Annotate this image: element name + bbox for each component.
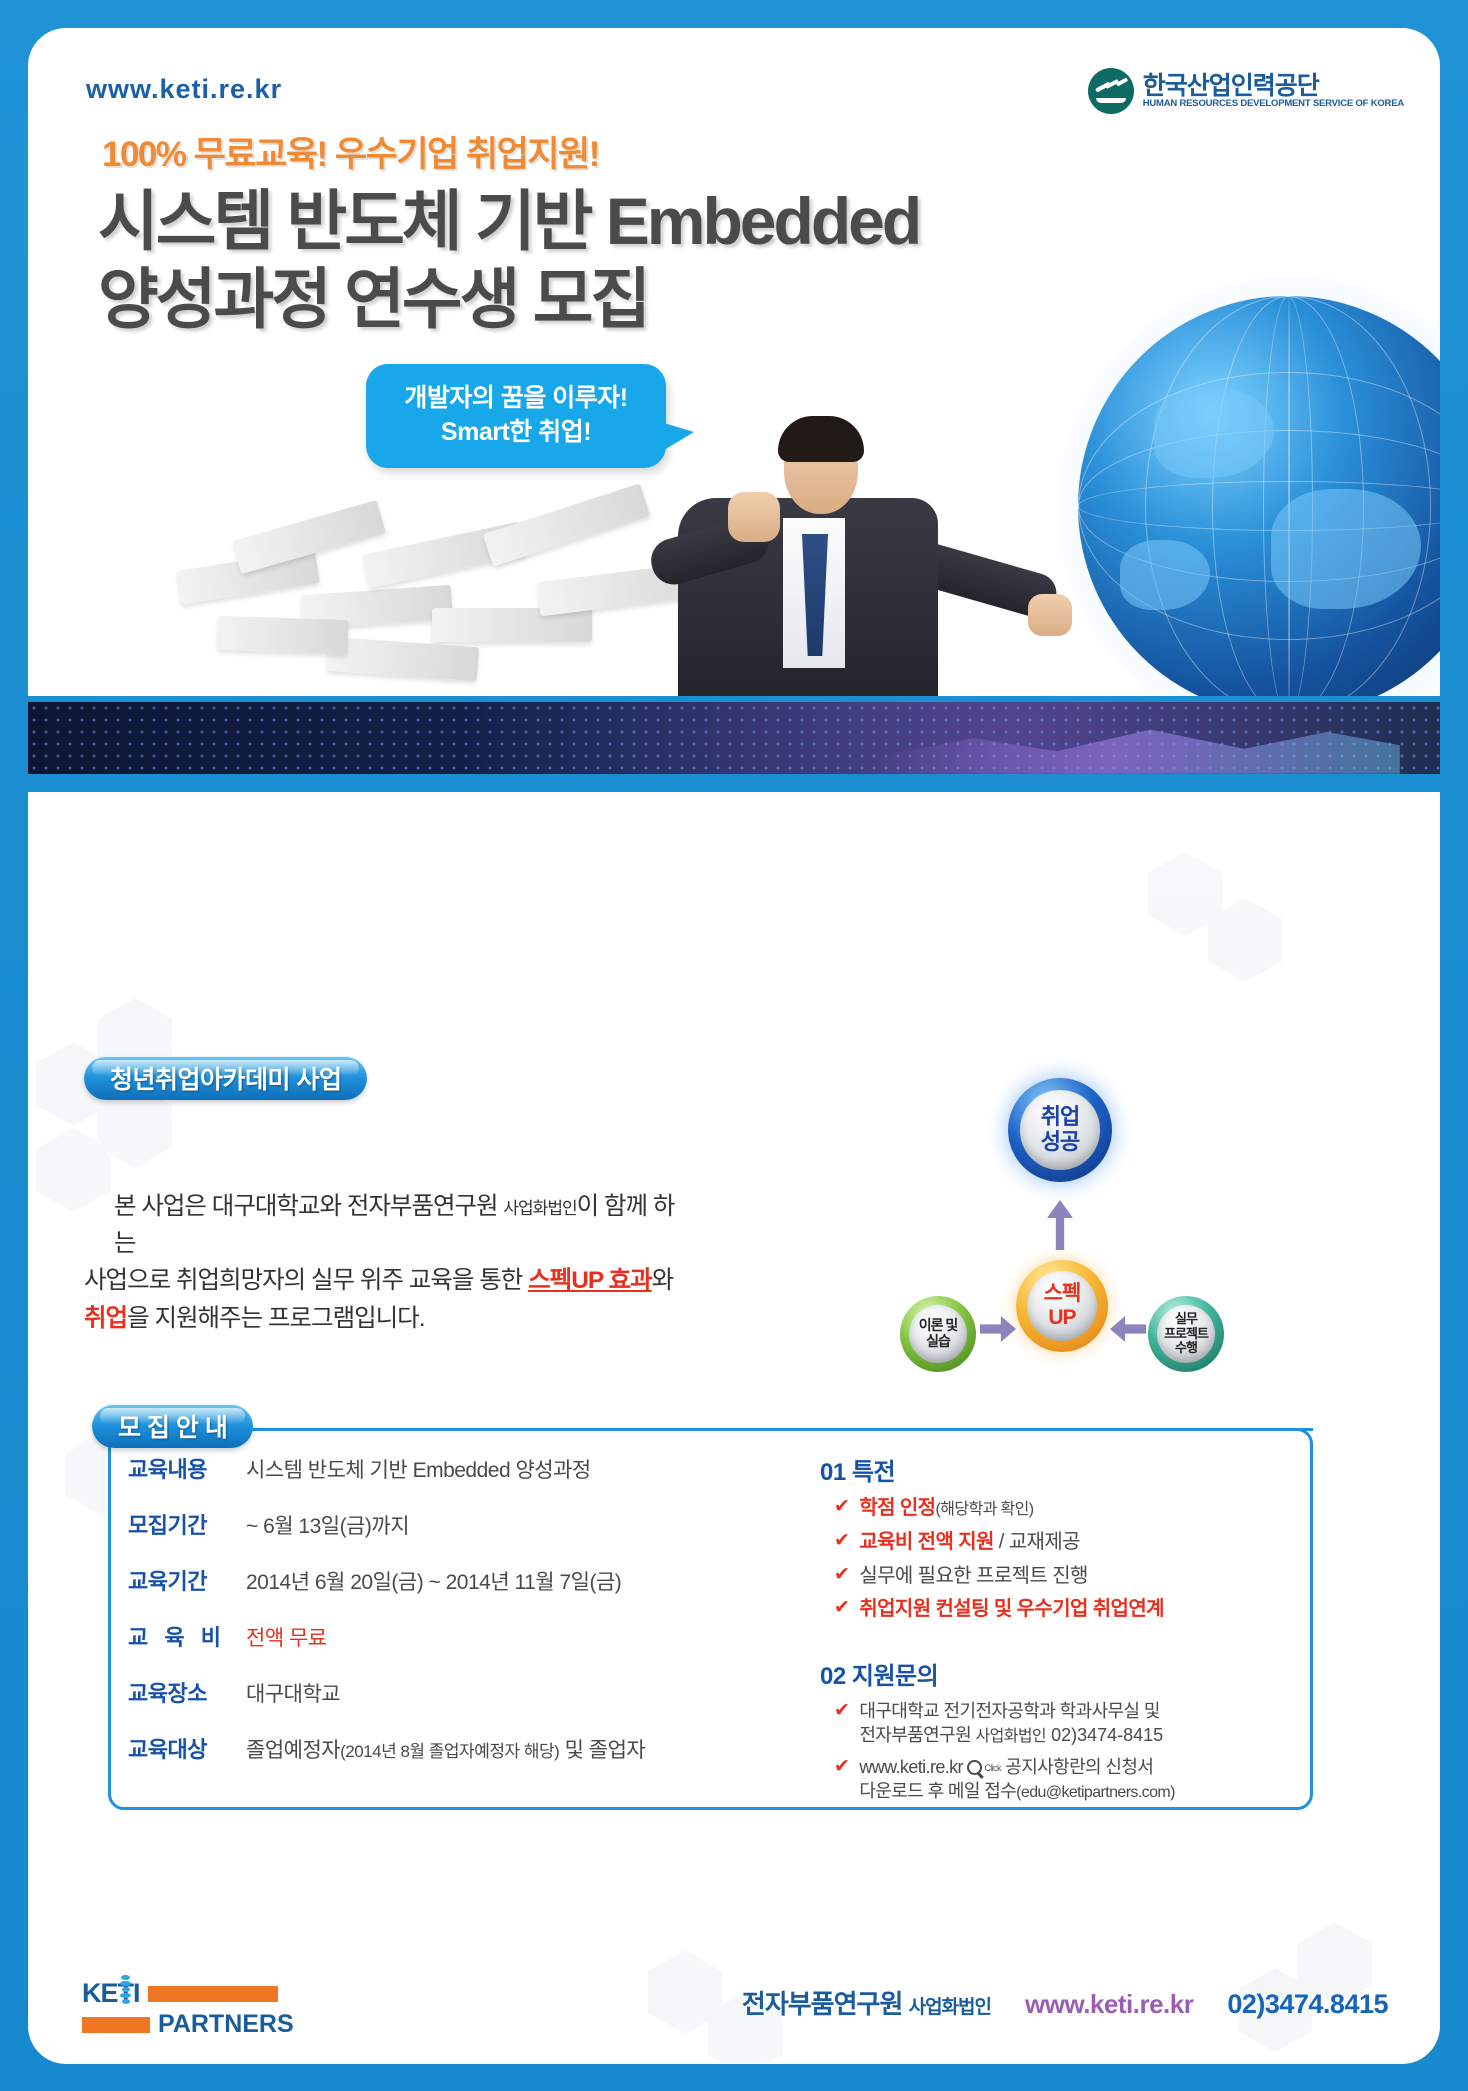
- list-item: ✔ 학점 인정(해당학과 확인): [820, 1495, 1290, 1522]
- keti-orange-bar-2: [82, 2017, 150, 2033]
- keti-partners-logo: KETI PARTNERS: [82, 1978, 272, 2040]
- recruit-label-target: 교육대상: [128, 1732, 246, 1764]
- hrd-emblem-icon: [1088, 68, 1134, 114]
- hrd-name-korean: 한국산업인력공단: [1143, 73, 1404, 99]
- decorative-band: [28, 702, 1440, 774]
- contact-title: 02 지원문의: [820, 1656, 1290, 1691]
- check-icon: ✔: [834, 1529, 849, 1554]
- intro-line2-a: 사업으로 취업희망자의 실무 위주 교육을 통한: [84, 1267, 528, 1294]
- benefit-4-red: 취업지원 컨설팅 및 우수기업 취업연계: [859, 1596, 1164, 1623]
- table-row: 교육장소 대구대학교: [128, 1676, 728, 1708]
- hrd-korea-logo: 한국산업인력공단 HUMAN RESOURCES DEVELOPMENT SER…: [1088, 68, 1404, 114]
- benefits-title: 01 특전: [820, 1452, 1290, 1487]
- footer-org-small: 사업화법인: [909, 1997, 991, 2018]
- orb-success-line2: 성공: [1041, 1130, 1079, 1155]
- process-diagram: 취업 성공 스펙 UP 이론 및 실습: [900, 1078, 1240, 1398]
- recruit-label-content: 교육내용: [128, 1452, 246, 1484]
- intro-body-text: 본 사업은 대구대학교와 전자부품연구원 사업화법인이 함께 하는 사업으로 취…: [84, 1188, 684, 1337]
- footer-telephone[interactable]: 02)3474.8415: [1227, 1989, 1388, 2020]
- contact-email[interactable]: (edu@ketipartners.com): [1016, 1784, 1175, 1801]
- arrow-right-icon: [980, 1316, 1016, 1342]
- benefit-2-gray: / 교재제공: [994, 1531, 1080, 1553]
- contact-line2-small: 사업화법인: [975, 1728, 1046, 1745]
- orb-project-line1: 실무: [1164, 1312, 1208, 1327]
- recruit-label-location: 교육장소: [128, 1676, 246, 1708]
- poster-root: www.keti.re.kr 한국산업인력공단 HUMAN RESOURCES …: [0, 0, 1468, 2091]
- contact-phone[interactable]: 02)3474-8415: [1046, 1725, 1163, 1745]
- intro-line2-b: 와: [652, 1267, 674, 1294]
- keti-orange-bar-1: [148, 1986, 278, 2002]
- benefit-1-note: (해당학과 확인): [936, 1501, 1034, 1518]
- orb-employment-success: 취업 성공: [1008, 1078, 1112, 1182]
- footer-website-url[interactable]: www.keti.re.kr: [1025, 1989, 1193, 2020]
- recruit-label-duration: 교육기간: [128, 1564, 246, 1596]
- benefit-2-red: 교육비 전액 지원: [859, 1531, 994, 1553]
- benefit-3-text: 실무에 필요한 프로젝트 진행: [859, 1563, 1087, 1590]
- orb-spec-up: 스펙 UP: [1016, 1260, 1108, 1352]
- orb-theory-line2: 실습: [919, 1334, 958, 1350]
- table-row: 교육대상 졸업예정자(2014년 8월 졸업자예정자 해당) 및 졸업자: [128, 1732, 728, 1764]
- hero-title-line2: 양성과정 연수생 모집: [98, 246, 648, 342]
- recruit-label-fee: 교 육 비: [128, 1620, 246, 1652]
- section-recruit-heading: 모 집 안 내: [92, 1404, 253, 1448]
- check-icon: ✔: [834, 1699, 849, 1724]
- contact-line1: 대구대학교 전기전자공학과 학과사무실 및: [859, 1701, 1159, 1721]
- orb-project-execution: 실무 프로젝트 수행: [1148, 1296, 1224, 1372]
- recruit-value-fee: 전액 무료: [246, 1622, 327, 1652]
- click-badge-label: Click: [984, 1762, 1001, 1774]
- recruit-box-top-rule: [330, 1428, 1313, 1431]
- contact-download-text: 다운로드 후 메일 접수: [859, 1781, 1016, 1801]
- intro-line1-small: 사업화법인: [503, 1199, 576, 1218]
- check-icon: ✔: [834, 1596, 849, 1621]
- benefit-1-red: 학점 인정: [859, 1497, 935, 1519]
- click-cursor-icon: Click: [967, 1760, 1001, 1775]
- recruit-label-period: 모집기간: [128, 1508, 246, 1540]
- recruit-value-location: 대구대학교: [246, 1678, 340, 1708]
- recruit-target-main: 졸업예정자: [246, 1739, 340, 1762]
- table-row: 교육내용 시스템 반도체 기반 Embedded 양성과정: [128, 1452, 728, 1484]
- arrow-up-icon: [1047, 1200, 1073, 1250]
- table-row: 모집기간 ~ 6월 13일(금)까지: [128, 1508, 728, 1540]
- recruit-pill-label: 모 집 안 내: [92, 1404, 253, 1448]
- list-item: ✔ 실무에 필요한 프로젝트 진행: [820, 1563, 1290, 1590]
- speech-bubble: 개발자의 꿈을 이루자! Smart한 취업!: [366, 364, 666, 468]
- intro-line1-a: 본 사업은 대구대학교와 전자부품연구원: [114, 1193, 503, 1220]
- recruit-value-period: ~ 6월 13일(금)까지: [246, 1510, 409, 1540]
- recruit-value-duration: 2014년 6월 20일(금) ~ 2014년 11월 7일(금): [246, 1566, 621, 1596]
- footer-organization: 전자부품연구원 사업화법인: [742, 1984, 991, 2021]
- check-icon: ✔: [834, 1563, 849, 1588]
- footer-contact-row: 전자부품연구원 사업화법인 www.keti.re.kr 02)3474.841…: [742, 1984, 1388, 2021]
- intro-line3-b: 을 지원해주는 프로그램입니다.: [127, 1305, 424, 1332]
- list-item: ✔ 교육비 전액 지원 / 교재제공: [820, 1529, 1290, 1556]
- intro-highlight-spec-up: 스펙UP 효과: [528, 1267, 652, 1294]
- arrow-left-icon: [1110, 1316, 1146, 1342]
- check-icon: ✔: [834, 1495, 849, 1520]
- hrd-name-english: HUMAN RESOURCES DEVELOPMENT SERVICE OF K…: [1143, 99, 1404, 109]
- speech-bubble-line1: 개발자의 꿈을 이루자!: [404, 382, 627, 416]
- orb-theory-practice: 이론 및 실습: [900, 1296, 976, 1372]
- orb-project-line3: 수행: [1164, 1341, 1208, 1356]
- orb-project-line2: 프로젝트: [1164, 1327, 1208, 1342]
- recruit-details-list: 교육내용 시스템 반도체 기반 Embedded 양성과정 모집기간 ~ 6월 …: [128, 1452, 728, 1788]
- partners-wordmark: PARTNERS: [158, 2010, 294, 2039]
- header-website-url[interactable]: www.keti.re.kr: [86, 74, 282, 105]
- list-item: ✔ 취업지원 컨설팅 및 우수기업 취업연계: [820, 1596, 1290, 1623]
- section-intro-heading: 청년취업아카데미 사업: [84, 1056, 367, 1100]
- intro-highlight-employment: 취업: [84, 1305, 127, 1332]
- recruit-side-column: 01 특전 ✔ 학점 인정(해당학과 확인) ✔ 교육비 전액 지원 / 교재제…: [820, 1452, 1290, 1810]
- table-row: 교육기간 2014년 6월 20일(금) ~ 2014년 11월 7일(금): [128, 1564, 728, 1596]
- recruit-value-target: 졸업예정자(2014년 8월 졸업자예정자 해당) 및 졸업자: [246, 1734, 645, 1764]
- recruit-value-content: 시스템 반도체 기반 Embedded 양성과정: [246, 1454, 591, 1484]
- check-icon: ✔: [834, 1755, 849, 1780]
- contact-line2-a: 전자부품연구원: [859, 1725, 975, 1745]
- benefits-list: ✔ 학점 인정(해당학과 확인) ✔ 교육비 전액 지원 / 교재제공 ✔ 실무…: [820, 1495, 1290, 1623]
- hero-panel: www.keti.re.kr 한국산업인력공단 HUMAN RESOURCES …: [28, 28, 1440, 696]
- list-item: ✔ www.keti.re.kr Click 공지사항란의 신청서 다운로드 후…: [820, 1755, 1290, 1804]
- recruit-target-note: (2014년 8월 졸업자예정자 해당): [340, 1742, 559, 1761]
- speech-bubble-line2: Smart한 취업!: [441, 416, 591, 450]
- orb-spec-line2: UP: [1044, 1306, 1081, 1330]
- keti-dots-icon: [120, 1974, 131, 2005]
- orb-theory-line1: 이론 및: [919, 1318, 958, 1334]
- footer: KETI PARTNERS 전자부품연구원 사업화법인 www.keti.re.…: [28, 1950, 1440, 2068]
- intro-pill-label: 청년취업아카데미 사업: [84, 1056, 367, 1100]
- orb-spec-line1: 스펙: [1044, 1282, 1081, 1306]
- contact-url[interactable]: www.keti.re.kr: [859, 1757, 963, 1777]
- orb-success-line1: 취업: [1041, 1105, 1079, 1130]
- table-row: 교 육 비 전액 무료: [128, 1620, 728, 1652]
- recruit-target-tail: 및 졸업자: [559, 1739, 645, 1762]
- contact-list: ✔ 대구대학교 전기전자공학과 학과사무실 및 전자부품연구원 사업화법인 02…: [820, 1699, 1290, 1803]
- list-item: ✔ 대구대학교 전기전자공학과 학과사무실 및 전자부품연구원 사업화법인 02…: [820, 1699, 1290, 1748]
- contact-url-rest: 공지사항란의 신청서: [1001, 1757, 1153, 1777]
